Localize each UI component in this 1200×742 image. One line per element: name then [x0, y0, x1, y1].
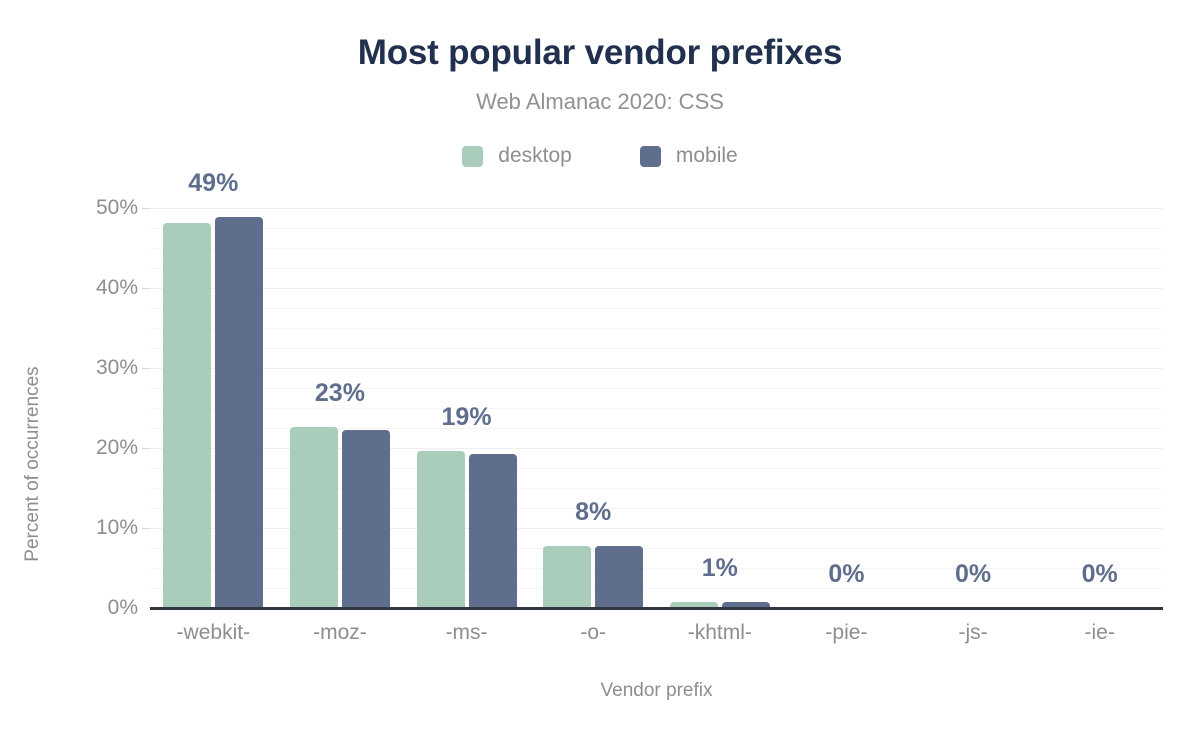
bar-mobile-webkit[interactable]: [215, 217, 263, 608]
y-axis-tick-label: 40%: [18, 277, 138, 298]
y-axis-tick-label: 0%: [18, 597, 138, 618]
legend-label: desktop: [498, 144, 572, 168]
y-axis-tick-mark: [142, 368, 150, 369]
bar-value-label: 0%: [1020, 560, 1180, 588]
bar-mobile-ms[interactable]: [469, 454, 517, 608]
legend-item-desktop[interactable]: desktop: [462, 142, 572, 170]
legend-swatch-icon: [462, 146, 483, 167]
bar-value-label: 19%: [387, 403, 547, 431]
bar-group: [290, 208, 390, 608]
y-axis-tick-mark: [142, 528, 150, 529]
bar-group: [163, 208, 263, 608]
bar-value-label: 49%: [133, 169, 293, 197]
bar-group: [543, 208, 643, 608]
bar-group: [796, 208, 896, 608]
y-axis-tick-mark: [142, 448, 150, 449]
legend-item-mobile[interactable]: mobile: [640, 142, 738, 170]
bar-group: [1050, 208, 1150, 608]
y-axis-tick-label: 10%: [18, 517, 138, 538]
bar-mobile-o[interactable]: [595, 546, 643, 608]
chart-subtitle: Web Almanac 2020: CSS: [0, 88, 1200, 116]
x-axis-line: [150, 607, 1163, 610]
y-axis-title: Percent of occurrences: [16, 294, 50, 634]
bar-group: [670, 208, 770, 608]
chart-legend: desktopmobile: [0, 142, 1200, 170]
bar-desktop-o[interactable]: [543, 546, 591, 608]
y-axis-tick-mark: [142, 208, 150, 209]
bar-desktop-ms[interactable]: [417, 451, 465, 608]
legend-label: mobile: [676, 144, 738, 168]
bar-desktop-moz[interactable]: [290, 427, 338, 608]
plot-area: [150, 208, 1163, 608]
bar-mobile-moz[interactable]: [342, 430, 390, 608]
y-axis-tick-label: 30%: [18, 357, 138, 378]
x-axis-tick-label: -ie-: [1000, 620, 1200, 646]
bar-desktop-webkit[interactable]: [163, 223, 211, 608]
chart-title: Most popular vendor prefixes: [0, 32, 1200, 74]
x-axis-title: Vendor prefix: [150, 678, 1163, 704]
bar-chart: Most popular vendor prefixes Web Almanac…: [0, 0, 1200, 742]
y-axis-tick-label: 20%: [18, 437, 138, 458]
bar-value-label: 8%: [513, 498, 673, 526]
y-axis-tick-label: 50%: [18, 197, 138, 218]
bar-group: [923, 208, 1023, 608]
y-axis-tick-mark: [142, 288, 150, 289]
legend-swatch-icon: [640, 146, 661, 167]
